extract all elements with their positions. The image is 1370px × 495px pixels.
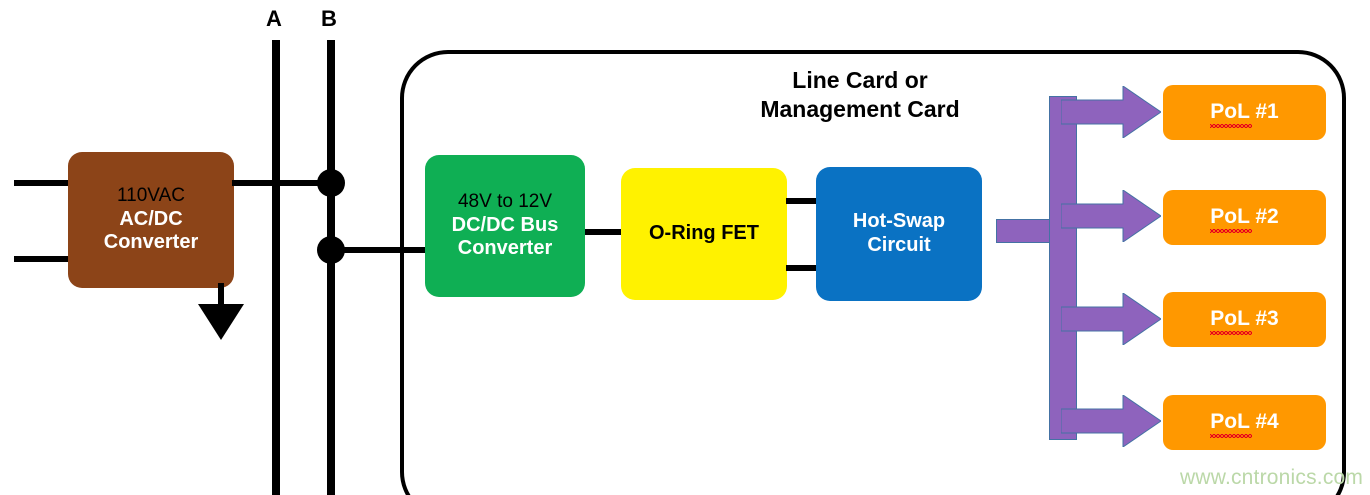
spellcheck-squiggle-icon (1210, 434, 1252, 438)
pol-label-3-text: PoL #3 (1210, 307, 1278, 330)
ac-dc-title-line1: AC/DC (119, 208, 182, 232)
bus-arrow-to-pol-2 (1061, 190, 1161, 242)
rail-a-label: A (266, 6, 282, 32)
card-title: Line Card or Management Card (660, 66, 1060, 125)
hot-swap-title-line1: Hot-Swap (853, 210, 945, 234)
site-watermark: www.cntronics.com (1180, 466, 1363, 490)
pol-block-4[interactable]: PoL #4 (1163, 395, 1326, 450)
spellcheck-squiggle-icon (1210, 229, 1252, 233)
power-distribution-bus (1049, 96, 1077, 440)
dc-dc-title-line1: DC/DC Bus (452, 214, 559, 238)
bus-arrow-to-pol-4 (1061, 395, 1161, 447)
o-ring-fet-block[interactable]: O-Ring FET (621, 168, 787, 300)
pol-label-4-text: PoL #4 (1210, 410, 1278, 433)
pol-block-2[interactable]: PoL #2 (1163, 190, 1326, 245)
pol-block-3[interactable]: PoL #3 (1163, 292, 1326, 347)
hot-swap-title-line2: Circuit (867, 234, 930, 258)
ac-input-line-top (14, 180, 74, 186)
rail-b-line (327, 40, 335, 495)
pol-label-1-text: PoL #1 (1210, 100, 1278, 123)
bus-arrow-to-pol-3 (1061, 293, 1161, 345)
rail-b-label: B (321, 6, 337, 32)
spellcheck-squiggle-icon (1210, 331, 1252, 335)
card-title-line2: Management Card (660, 95, 1060, 124)
oring-to-hotswap-wire-top (786, 198, 818, 204)
ac-dc-converter-block[interactable]: 110VAC AC/DC Converter (68, 152, 234, 288)
rail-a-line (272, 40, 280, 495)
oring-to-hotswap-wire-bottom (786, 265, 818, 271)
ground-arrow-icon (198, 304, 244, 340)
dc-dc-voltage-label: 48V to 12V (458, 191, 552, 213)
power-block-diagram: 110VAC AC/DC Converter A B Line Card or … (0, 0, 1370, 495)
pol-label-1: PoL #1 (1210, 100, 1278, 125)
spellcheck-squiggle-icon (1210, 124, 1252, 128)
hot-swap-circuit-block[interactable]: Hot-Swap Circuit (816, 167, 982, 301)
ac-input-line-bottom (14, 256, 74, 262)
pol-label-4: PoL #4 (1210, 410, 1278, 435)
o-ring-fet-title: O-Ring FET (649, 222, 759, 246)
pol-label-2: PoL #2 (1210, 205, 1278, 230)
bus-arrow-to-pol-1 (1061, 86, 1161, 138)
dc-dc-bus-converter-block[interactable]: 48V to 12V DC/DC Bus Converter (425, 155, 585, 297)
pol-block-1[interactable]: PoL #1 (1163, 85, 1326, 140)
dcdc-to-oring-wire (585, 229, 623, 235)
pol-label-3: PoL #3 (1210, 307, 1278, 332)
card-title-line1: Line Card or (660, 66, 1060, 95)
dc-dc-title-line2: Converter (458, 237, 552, 261)
ac-dc-title-line2: Converter (104, 231, 198, 255)
hot-swap-to-bus-feed (996, 219, 1056, 243)
pol-label-2-text: PoL #2 (1210, 205, 1278, 228)
ac-dc-input-voltage-label: 110VAC (117, 185, 185, 207)
